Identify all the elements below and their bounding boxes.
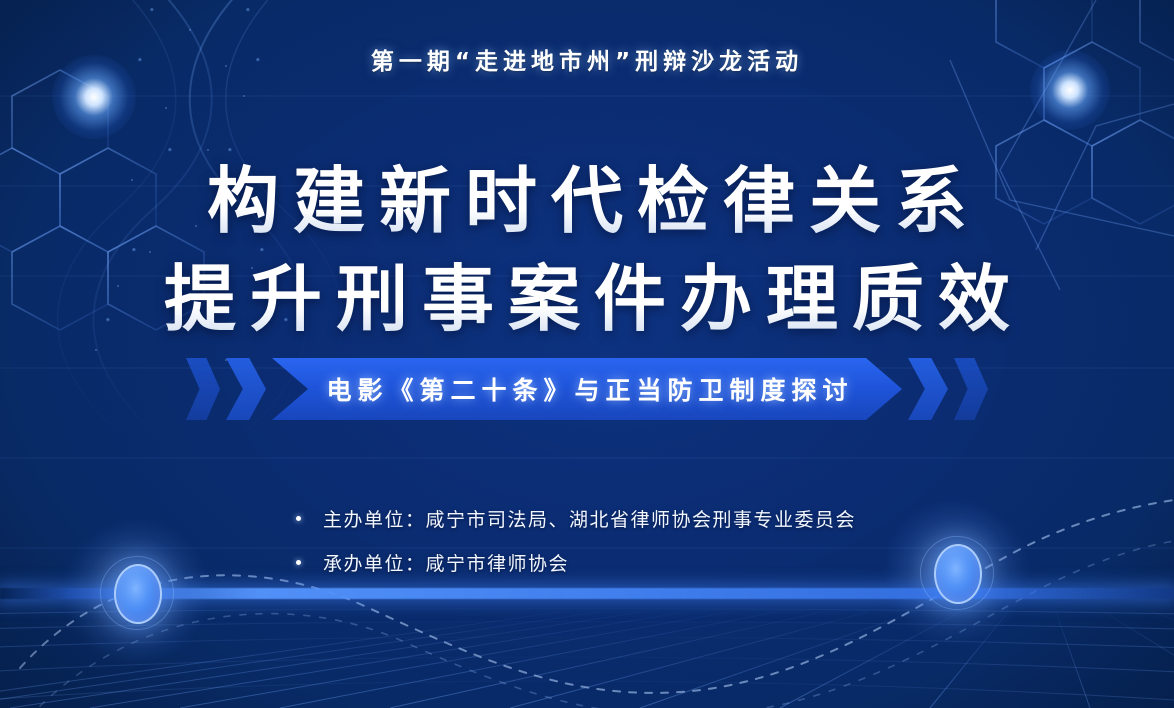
title-line-2: 提升刑事案件办理质效 <box>0 250 1174 348</box>
organizer-list: 主办单位：咸宁市司法局、湖北省律师协会刑事专业委员会 承办单位：咸宁市律师协会 <box>296 496 936 584</box>
chevron-left-outer-icon <box>186 358 220 420</box>
organizer-organiser-text: 承办单位：咸宁市律师协会 <box>323 549 569 576</box>
bullet-dot-icon <box>296 560 301 565</box>
horizontal-light-beam <box>0 588 1174 599</box>
list-item: 主办单位：咸宁市司法局、湖北省律师协会刑事专业委员会 <box>296 496 936 540</box>
subtitle-banner-body: 电影《第二十条》与正当防卫制度探讨 <box>272 358 902 420</box>
event-poster: 第一期“走进地市州”刑辩沙龙活动 构建新时代检律关系 提升刑事案件办理质效 电影… <box>0 0 1174 708</box>
perspective-grid <box>0 609 1174 708</box>
page-title: 构建新时代检律关系 提升刑事案件办理质效 <box>0 152 1174 348</box>
subtitle-banner-label: 电影《第二十条》与正当防卫制度探讨 <box>320 371 853 407</box>
title-line-1: 构建新时代检律关系 <box>0 152 1174 250</box>
organizer-host-text: 主办单位：咸宁市司法局、湖北省律师协会刑事专业委员会 <box>323 505 856 532</box>
chevron-right-outer-icon <box>954 358 988 420</box>
glow-node-right <box>934 544 982 604</box>
list-item: 承办单位：咸宁市律师协会 <box>296 540 936 584</box>
glow-node-left <box>114 564 162 624</box>
subtitle-banner: 电影《第二十条》与正当防卫制度探讨 <box>0 358 1174 420</box>
event-series-heading: 第一期“走进地市州”刑辩沙龙活动 <box>0 42 1174 76</box>
chevron-right-inner-icon <box>908 358 948 420</box>
bullet-dot-icon <box>296 516 301 521</box>
chevron-left-inner-icon <box>226 358 266 420</box>
vignette-overlay <box>0 0 1174 708</box>
background-graphics <box>0 0 1174 708</box>
